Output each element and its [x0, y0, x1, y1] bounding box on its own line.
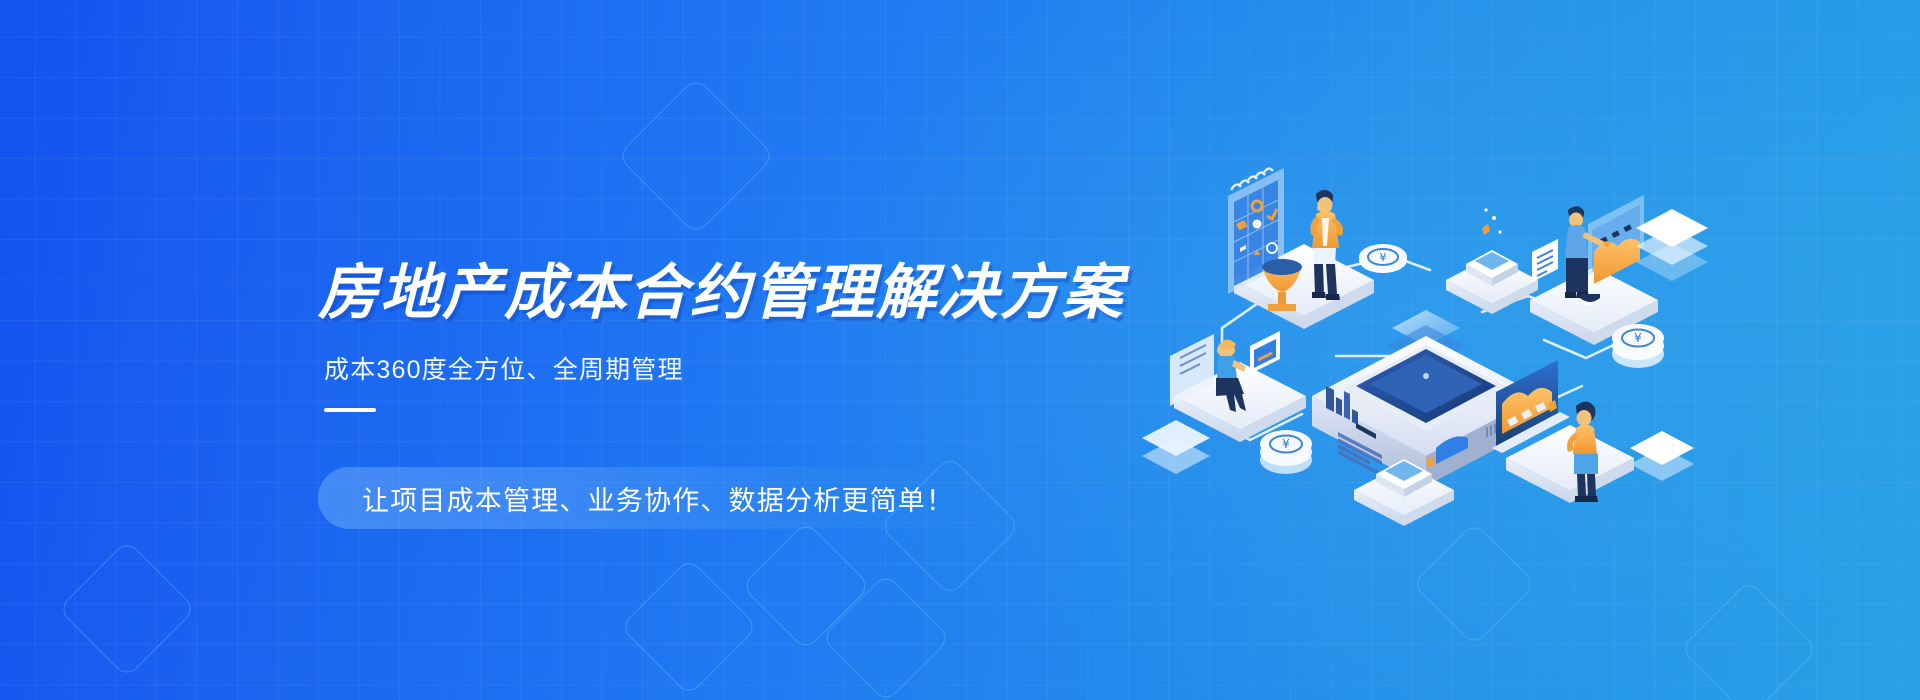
- svg-text:¥: ¥: [1282, 437, 1290, 451]
- title-divider: [324, 408, 376, 412]
- coin-stack-right: ¥: [1612, 324, 1664, 368]
- platform-dashboard: [1492, 360, 1634, 503]
- floating-layer-cards-lower-right: [1630, 431, 1694, 481]
- coin-yuan-top: ¥: [1359, 244, 1407, 273]
- coin-stack-bottom: ¥: [1260, 430, 1312, 474]
- tagline-text: 让项目成本管理、业务协作、数据分析更简单！: [362, 479, 954, 518]
- page-subtitle: 成本360度全方位、全周期管理: [324, 350, 1078, 386]
- hero-banner: 房地产成本合约管理解决方案 成本360度全方位、全周期管理 让项目成本管理、业务…: [0, 0, 1920, 700]
- platform-document: [1170, 331, 1306, 442]
- document-card: [1532, 239, 1558, 282]
- floating-layer-cards-left: [1142, 420, 1210, 474]
- hero-illustration: ¥: [1130, 160, 1690, 560]
- hero-copy: 房地产成本合约管理解决方案 成本360度全方位、全周期管理: [318, 262, 1078, 412]
- svg-text:¥: ¥: [1380, 251, 1387, 264]
- platform-presenter: [1530, 195, 1658, 345]
- platform-calendar: [1228, 168, 1374, 329]
- tablet-device: [1250, 331, 1280, 374]
- page-title: 房地产成本合约管理解决方案: [318, 262, 1078, 324]
- svg-text:¥: ¥: [1634, 331, 1642, 345]
- tagline-pill: 让项目成本管理、业务协作、数据分析更简单！: [318, 467, 990, 529]
